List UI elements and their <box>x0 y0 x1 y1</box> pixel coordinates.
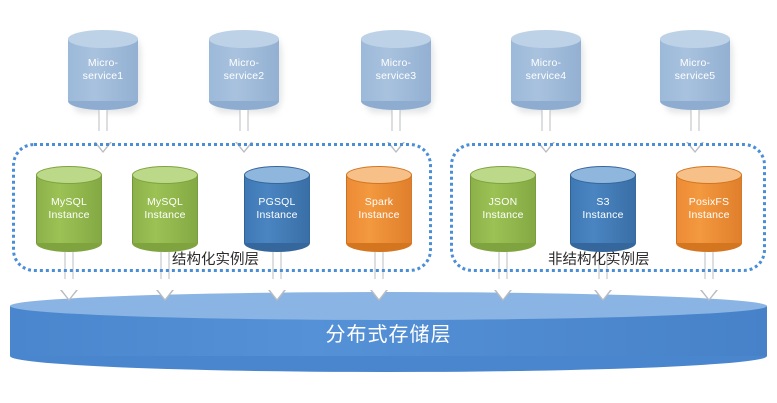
microservice-cylinder: Micro-service4 <box>511 30 581 110</box>
instance-label-line2: Instance <box>582 209 623 222</box>
arrow-shaft <box>542 110 551 131</box>
instance-label-line2: Instance <box>144 209 185 222</box>
microservice-label-line1: Micro- <box>680 57 710 70</box>
instance-label-line2: Instance <box>358 209 399 222</box>
instance-label-line2: Instance <box>256 209 297 222</box>
microservice-to-instance-arrow <box>536 110 556 142</box>
arrow-head-fill <box>270 290 284 299</box>
instance-label: MySQLInstance <box>132 166 198 252</box>
microservice-cylinder: Micro-service3 <box>361 30 431 110</box>
instance-label-line2: Instance <box>482 209 523 222</box>
microservice-cylinder: Micro-service2 <box>209 30 279 110</box>
instance-cylinder: JSONInstance <box>470 166 536 252</box>
arrow-shaft <box>240 110 249 131</box>
microservice-label-line1: Micro- <box>531 57 561 70</box>
microservice-cylinder: Micro-service1 <box>68 30 138 110</box>
microservice-label-line2: service4 <box>526 70 567 83</box>
instance-cylinder: PGSQLInstance <box>244 166 310 252</box>
arrow-shaft <box>392 110 401 131</box>
storage-layer-label: 分布式存储层 <box>10 292 767 372</box>
microservice-label: Micro-service4 <box>511 30 581 110</box>
microservice-label-line2: service1 <box>83 70 124 83</box>
instance-label-line1: JSON <box>489 196 518 209</box>
microservice-label: Micro-service2 <box>209 30 279 110</box>
arrow-head-fill <box>372 290 386 299</box>
microservice-cylinder: Micro-service5 <box>660 30 730 110</box>
instance-label: JSONInstance <box>470 166 536 252</box>
instance-label-line1: Spark <box>365 196 393 209</box>
instance-label-line1: MySQL <box>147 196 183 209</box>
instance-label: S3Instance <box>570 166 636 252</box>
instance-label-line1: S3 <box>596 196 609 209</box>
arrow-head-fill <box>62 290 76 299</box>
microservice-label-line2: service5 <box>675 70 716 83</box>
instance-label-line1: PosixFS <box>689 196 730 209</box>
microservice-label-line1: Micro- <box>229 57 259 70</box>
instance-cylinder: SparkInstance <box>346 166 412 252</box>
arrow-head-fill <box>596 290 610 299</box>
arrow-shaft <box>99 110 108 131</box>
instance-cylinder: MySQLInstance <box>132 166 198 252</box>
microservice-to-instance-arrow <box>685 110 705 142</box>
instance-label: SparkInstance <box>346 166 412 252</box>
arrow-head-fill <box>496 290 510 299</box>
microservice-to-instance-arrow <box>93 110 113 142</box>
instance-label: MySQLInstance <box>36 166 102 252</box>
microservice-label: Micro-service3 <box>361 30 431 110</box>
microservice-to-instance-arrow <box>234 110 254 142</box>
microservice-label: Micro-service1 <box>68 30 138 110</box>
instance-cylinder: PosixFSInstance <box>676 166 742 252</box>
instance-label: PosixFSInstance <box>676 166 742 252</box>
instance-label-line2: Instance <box>688 209 729 222</box>
microservice-label-line2: service2 <box>224 70 265 83</box>
arrow-shaft <box>691 110 700 131</box>
instance-cylinder: S3Instance <box>570 166 636 252</box>
instance-label-line1: PGSQL <box>258 196 295 209</box>
microservice-to-instance-arrow <box>386 110 406 142</box>
microservice-label-line2: service3 <box>376 70 417 83</box>
arrow-head-fill <box>158 290 172 299</box>
instance-label: PGSQLInstance <box>244 166 310 252</box>
instance-label-line2: Instance <box>48 209 89 222</box>
architecture-diagram: 分布式存储层结构化实例层MySQLInstanceMySQLInstancePG… <box>0 0 777 403</box>
microservice-label: Micro-service5 <box>660 30 730 110</box>
microservice-label-line1: Micro- <box>88 57 118 70</box>
instance-cylinder: MySQLInstance <box>36 166 102 252</box>
arrow-head-fill <box>702 290 716 299</box>
distributed-storage-layer: 分布式存储层 <box>10 292 767 372</box>
instance-label-line1: MySQL <box>51 196 87 209</box>
microservice-label-line1: Micro- <box>381 57 411 70</box>
